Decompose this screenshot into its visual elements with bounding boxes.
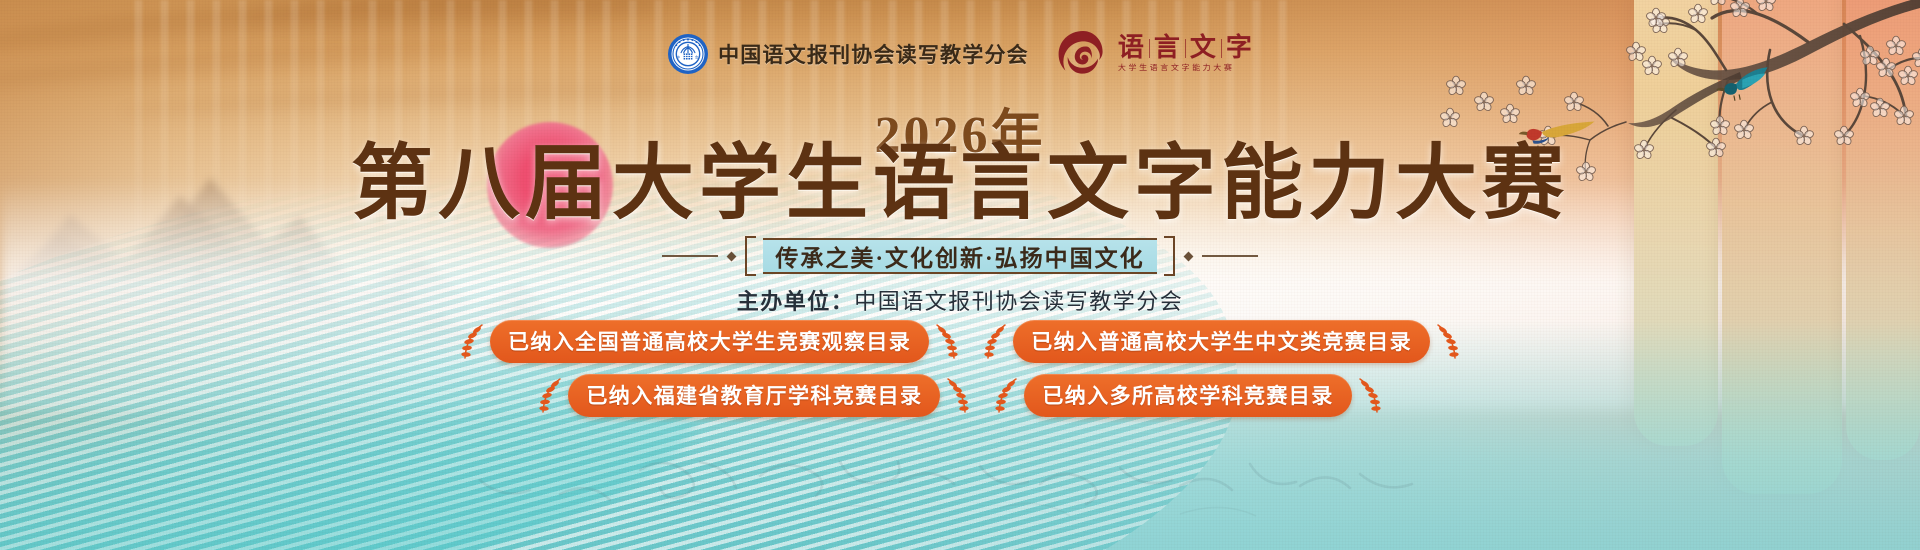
- china-chinese-language-press-association-emblem: 中会: [667, 33, 709, 75]
- organizer-value: 中国语文报刊协会读写教学分会: [854, 289, 1183, 314]
- badge-text: 已纳入福建省教育厅学科竞赛目录: [586, 384, 922, 408]
- laurel-left-icon: [983, 322, 1009, 362]
- logo-char: 言: [1154, 35, 1181, 61]
- tagline-diamond-left: [727, 251, 737, 261]
- page-title: 第八届大学生语言文字能力大赛: [0, 140, 1920, 229]
- logo-char: 字: [1226, 35, 1253, 61]
- tagline-plate-group: 传承之美·文化创新·弘扬中国文化: [745, 236, 1174, 276]
- contest-logo-characters: 语 言 文 字: [1118, 35, 1253, 61]
- laurel-right-icon: [944, 376, 970, 416]
- badge-pill[interactable]: 已纳入福建省教育厅学科竞赛目录: [568, 374, 940, 417]
- badge-pill[interactable]: 已纳入普通高校大学生中文类竞赛目录: [1013, 320, 1430, 363]
- association-name: 中国语文报刊协会读写教学分会: [718, 39, 1029, 69]
- badge-pill[interactable]: 已纳入全国普通高校大学生竞赛观察目录: [490, 320, 929, 363]
- badge-text: 已纳入普通高校大学生中文类竞赛目录: [1031, 330, 1412, 354]
- tagline-bracket-left: [745, 236, 756, 276]
- organizer-line: 主办单位：中国语文报刊协会读写教学分会: [0, 284, 1920, 316]
- tagline-rule-right: [1202, 255, 1258, 257]
- laurel-left-icon: [538, 376, 564, 416]
- badge[interactable]: 已纳入普通高校大学生中文类竞赛目录: [983, 320, 1460, 363]
- contest-logo: 语 言 文 字 大学生语言文字能力大赛: [1057, 28, 1253, 80]
- badge-row: 已纳入全国普通高校大学生竞赛观察目录: [460, 320, 1460, 363]
- laurel-right-icon: [1356, 376, 1382, 416]
- badge[interactable]: 已纳入福建省教育厅学科竞赛目录: [538, 374, 970, 417]
- badge-pill[interactable]: 已纳入多所高校学科竞赛目录: [1024, 374, 1351, 417]
- logo-char: 文: [1190, 35, 1217, 61]
- organizer-label: 主办单位：: [737, 289, 855, 314]
- language-and-script-rose-emblem: [1057, 28, 1109, 80]
- badge-text: 已纳入全国普通高校大学生竞赛观察目录: [508, 330, 911, 354]
- tagline-text: 传承之美·文化创新·弘扬中国文化: [775, 239, 1144, 273]
- laurel-right-icon: [933, 322, 959, 362]
- logo-separator: [1149, 39, 1150, 58]
- badge-list: 已纳入全国普通高校大学生竞赛观察目录: [0, 320, 1920, 417]
- laurel-right-icon: [1434, 322, 1460, 362]
- badge[interactable]: 已纳入多所高校学科竞赛目录: [994, 374, 1381, 417]
- association-logo: 中会 中国语文报刊协会读写教学分会: [667, 33, 1029, 75]
- tagline-rule-left: [662, 255, 718, 257]
- tagline-diamond-right: [1183, 251, 1193, 261]
- badge[interactable]: 已纳入全国普通高校大学生竞赛观察目录: [460, 320, 959, 363]
- contest-logo-subtitle: 大学生语言文字能力大赛: [1118, 62, 1253, 72]
- tagline-bracket-right: [1164, 236, 1175, 276]
- tagline: 传承之美·文化创新·弘扬中国文化: [0, 236, 1920, 276]
- tagline-plate: 传承之美·文化创新·弘扬中国文化: [763, 238, 1156, 274]
- logo-separator: [1221, 39, 1222, 58]
- logo-char: 语: [1118, 35, 1145, 61]
- contest-banner: 中会 中国语文报刊协会读写教学分会: [0, 0, 1920, 550]
- badge-row: 已纳入福建省教育厅学科竞赛目录: [538, 374, 1381, 417]
- laurel-left-icon: [994, 376, 1020, 416]
- badge-text: 已纳入多所高校学科竞赛目录: [1042, 384, 1333, 408]
- logo-row: 中会 中国语文报刊协会读写教学分会: [0, 28, 1920, 80]
- logo-separator: [1185, 39, 1186, 58]
- laurel-left-icon: [460, 322, 486, 362]
